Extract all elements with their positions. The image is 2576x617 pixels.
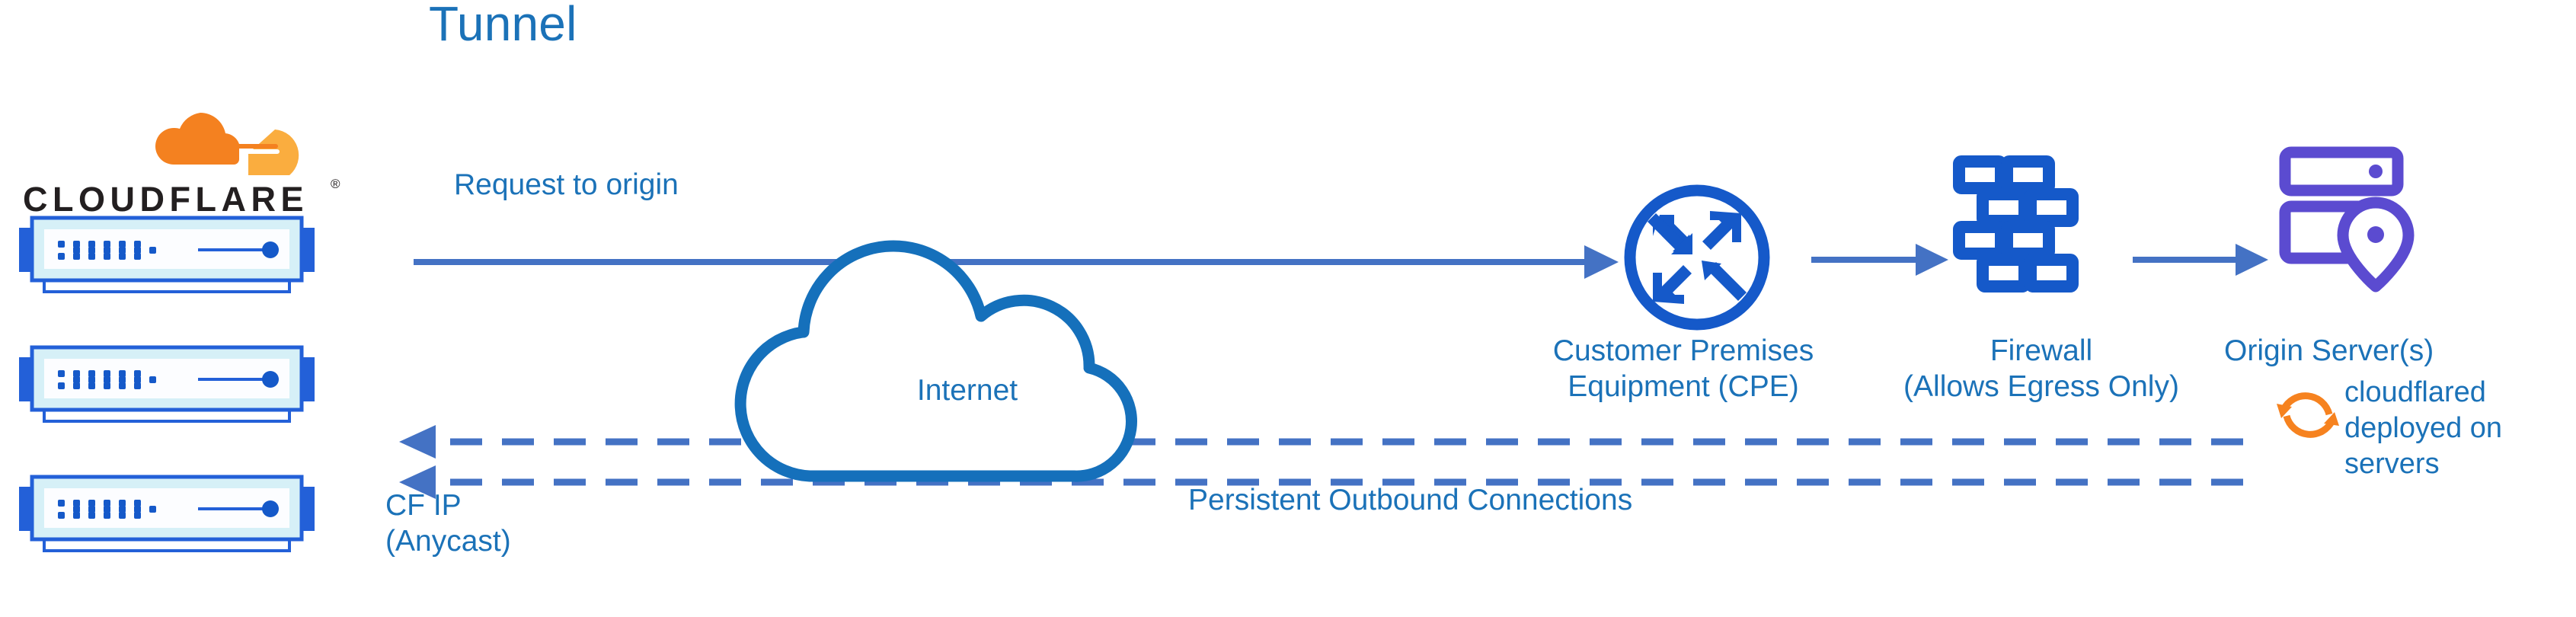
diagram-canvas: Tunnel CLOUDFLARE ®: [0, 0, 2576, 617]
router-four-arrows-circle-icon: [1621, 181, 1773, 334]
internet-cloud-icon: [708, 229, 1234, 488]
server-stack-location-pin-icon: [2276, 143, 2428, 296]
origin-server-label: Origin Server(s): [2224, 333, 2544, 369]
brick-wall-icon: [1951, 154, 2104, 306]
cloudflared-label: cloudflared deployed on servers: [2344, 375, 2565, 482]
cpe-label: Customer Premises Equipment (CPE): [1516, 333, 1851, 404]
circular-sync-arrows-icon: [2274, 381, 2342, 449]
firewall-label: Firewall (Allows Egress Only): [1870, 333, 2213, 404]
cf-ip-anycast-label: CF IP (Anycast): [385, 488, 637, 559]
internet-label: Internet: [842, 372, 1093, 408]
arrow-cpe-to-firewall: [1811, 244, 1948, 276]
request-to-origin-label: Request to origin: [454, 167, 679, 203]
arrow-firewall-to-origin: [2133, 244, 2268, 276]
persistent-outbound-connections-label: Persistent Outbound Connections: [1188, 482, 1632, 518]
dashed-line-persistent-outbound-upper: [399, 425, 2243, 459]
